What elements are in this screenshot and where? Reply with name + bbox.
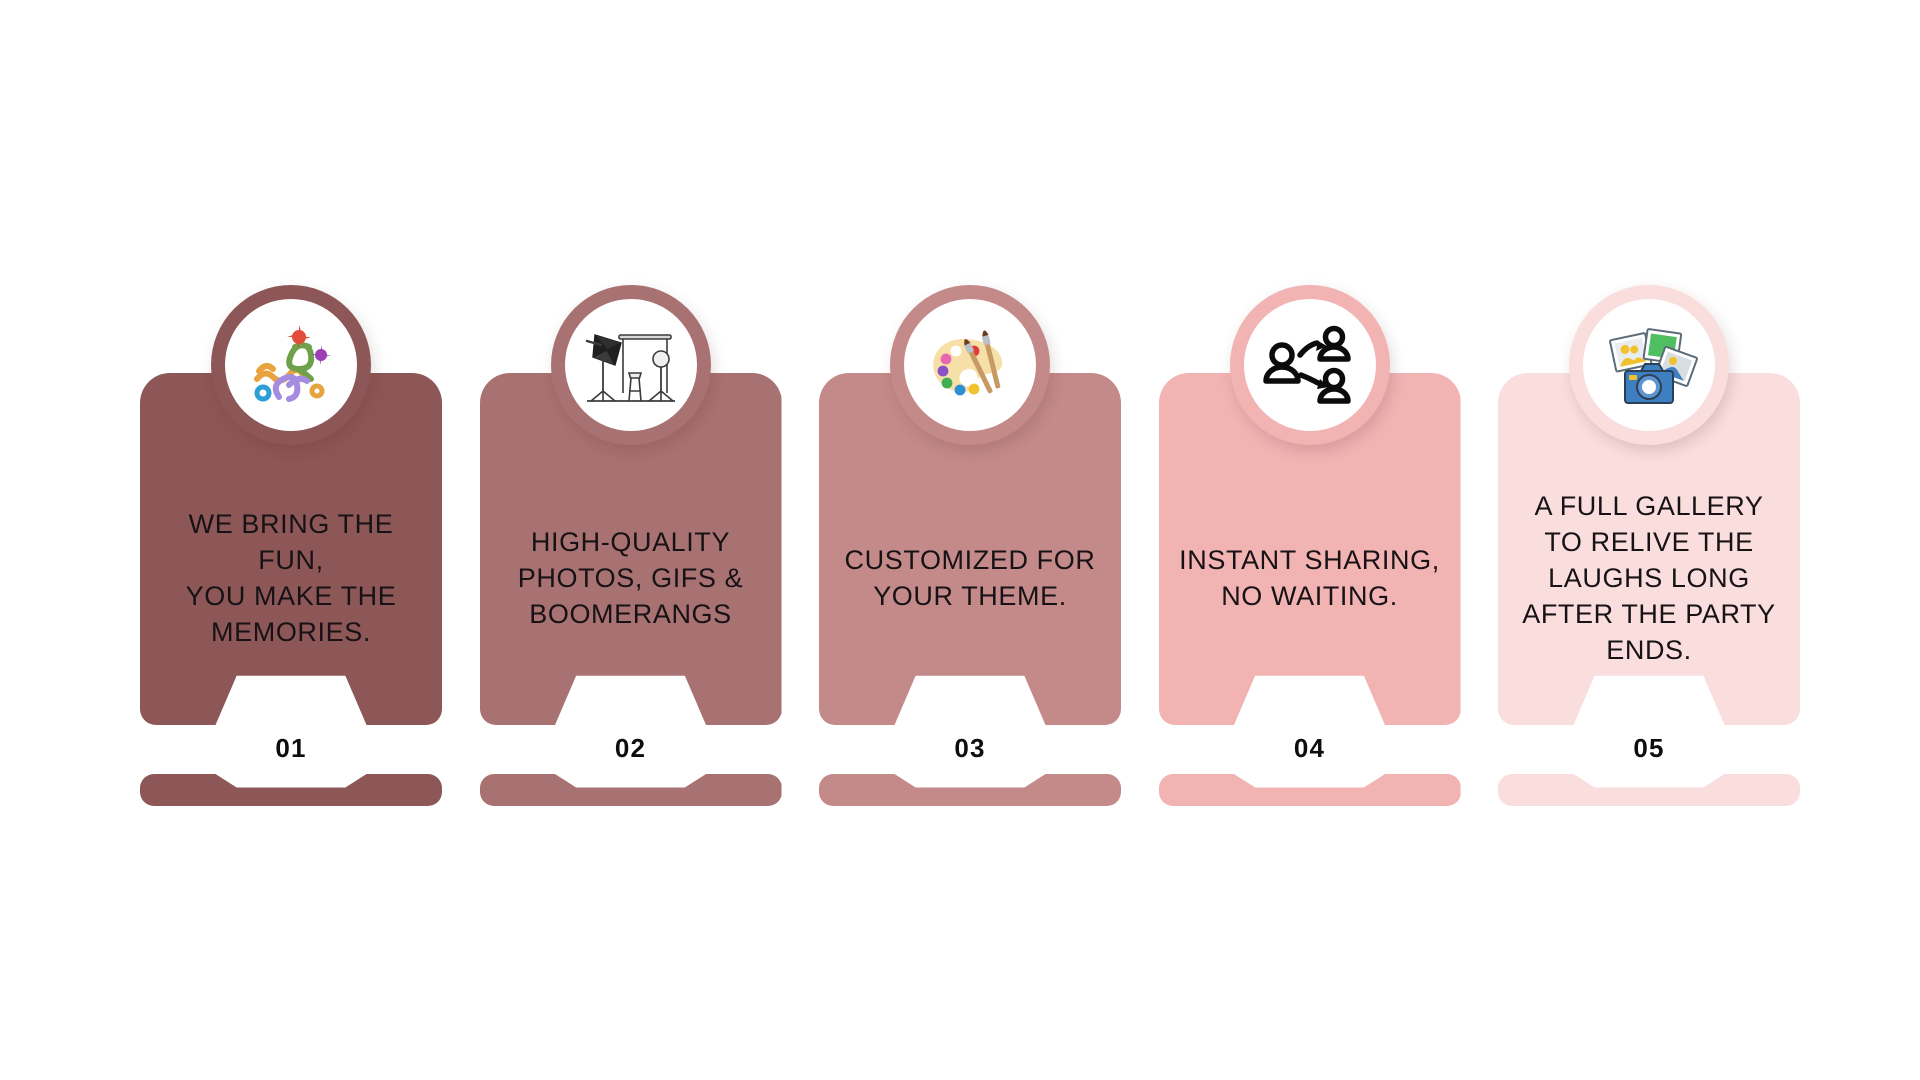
number-strip-04: 04: [1159, 725, 1461, 771]
icon-badge-01: [211, 285, 371, 445]
step-card-row: WE BRING THE FUN, YOU MAKE THE MEMORIES.…: [140, 285, 1800, 865]
icon-badge-05: [1569, 285, 1729, 445]
step-card-01[interactable]: WE BRING THE FUN, YOU MAKE THE MEMORIES.…: [140, 285, 442, 865]
card-footbar-01: [140, 774, 442, 806]
step-card-03[interactable]: CUSTOMIZED FOR YOUR THEME. 03: [819, 285, 1121, 865]
step-number-02: 02: [615, 735, 646, 761]
step-card-02[interactable]: HIGH-QUALITY PHOTOS, GIFS & BOOMERANGS 0…: [480, 285, 782, 865]
icon-badge-04: [1230, 285, 1390, 445]
number-strip-03: 03: [819, 725, 1121, 771]
step-card-05[interactable]: A FULL GALLERY TO RELIVE THE LAUGHS LONG…: [1498, 285, 1800, 865]
step-number-05: 05: [1633, 735, 1664, 761]
number-strip-02: 02: [480, 725, 782, 771]
card-footbar-04: [1159, 774, 1461, 806]
card-footbar-05: [1498, 774, 1800, 806]
card-footbar-03: [819, 774, 1121, 806]
photo-studio-lighting-icon: [565, 299, 697, 431]
card-caption-01: WE BRING THE FUN, YOU MAKE THE MEMORIES.: [154, 506, 428, 651]
card-caption-05: A FULL GALLERY TO RELIVE THE LAUGHS LONG…: [1512, 488, 1786, 669]
icon-badge-03: [890, 285, 1050, 445]
card-footbar-02: [480, 774, 782, 806]
icon-badge-02: [551, 285, 711, 445]
step-number-04: 04: [1294, 735, 1325, 761]
card-caption-02: HIGH-QUALITY PHOTOS, GIFS & BOOMERANGS: [494, 524, 768, 633]
number-strip-01: 01: [140, 725, 442, 771]
share-people-network-icon: [1244, 299, 1376, 431]
camera-photo-gallery-icon: [1583, 299, 1715, 431]
card-caption-03: CUSTOMIZED FOR YOUR THEME.: [833, 542, 1107, 614]
step-number-01: 01: [275, 735, 306, 761]
step-number-03: 03: [954, 735, 985, 761]
confetti-streamers-icon: [225, 299, 357, 431]
number-strip-05: 05: [1498, 725, 1800, 771]
infographic-canvas: WE BRING THE FUN, YOU MAKE THE MEMORIES.…: [0, 0, 1920, 1080]
card-caption-04: INSTANT SHARING, NO WAITING.: [1173, 542, 1447, 614]
artist-palette-brushes-icon: [904, 299, 1036, 431]
step-card-04[interactable]: INSTANT SHARING, NO WAITING. 04: [1159, 285, 1461, 865]
